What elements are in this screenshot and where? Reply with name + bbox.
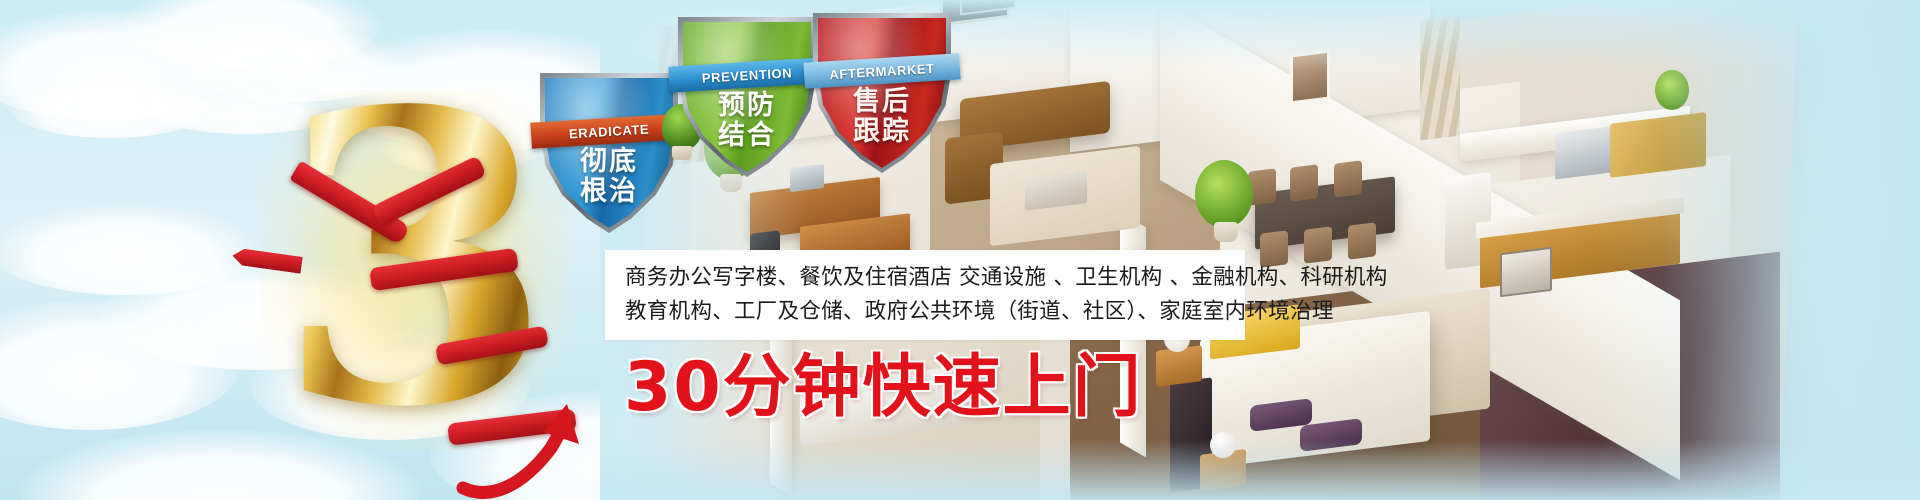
headline-text: 30分钟快速上门: [624, 348, 1143, 428]
shield-cn-line2: 跟踪: [818, 116, 946, 146]
dining-chair: [1260, 230, 1288, 267]
dining-chair: [1290, 164, 1318, 201]
shield-cn-line2: 结合: [683, 120, 811, 150]
wall-painting: [1290, 50, 1330, 105]
shield-cn-line1: 彻底: [545, 146, 673, 176]
cloud-shape: [10, 78, 210, 138]
badge-aftermarket: AFTERMARKET 售后 跟踪: [818, 18, 946, 168]
badge-eradicate: ERADICATE 彻底 根治: [545, 78, 673, 228]
service-scope-box: 商务办公写字楼、餐饮及住宿酒店 交通设施 、卫生机构 、金融机构、科研机构 教育…: [605, 250, 1245, 340]
potted-tree-pot: [720, 174, 742, 192]
cloud-shape: [0, 10, 260, 120]
potted-plant-foliage: [1655, 70, 1689, 110]
potted-tree-pot: [1214, 222, 1238, 242]
oven: [1500, 247, 1552, 297]
shield-cn-text: 售后 跟踪: [818, 86, 946, 146]
service-scope-line-1: 商务办公写字楼、餐饮及住宿酒店 交通设施 、卫生机构 、金融机构、科研机构: [625, 261, 1225, 295]
red-arrow-icon: [455, 370, 585, 500]
shield-cn-line1: 预防: [683, 90, 811, 120]
promo-banner: 3 ERADICATE 彻底 根治 PREVENTION 预防 结合: [0, 0, 1920, 500]
dining-chair: [1348, 222, 1376, 259]
cloud-shape: [0, 205, 260, 295]
shield-cn-text: 彻底 根治: [545, 146, 673, 206]
shield-cn-line1: 售后: [818, 86, 946, 116]
service-scope-line-2: 教育机构、工厂及仓储、政府公共环境（街道、社区）、家庭室内环境治理: [625, 295, 1225, 329]
shield-cn-line2: 根治: [545, 176, 673, 206]
dining-chair: [1304, 226, 1332, 263]
potted-tree-foliage: [1195, 160, 1253, 228]
badge-prevention: PREVENTION 预防 结合: [683, 22, 811, 172]
cloud-shape: [0, 300, 240, 430]
window-curtain: [1420, 16, 1460, 141]
dining-chair: [1334, 160, 1362, 197]
range-hood: [1555, 127, 1611, 180]
table-lamp: [1210, 432, 1236, 458]
shield-cn-text: 预防 结合: [683, 90, 811, 150]
